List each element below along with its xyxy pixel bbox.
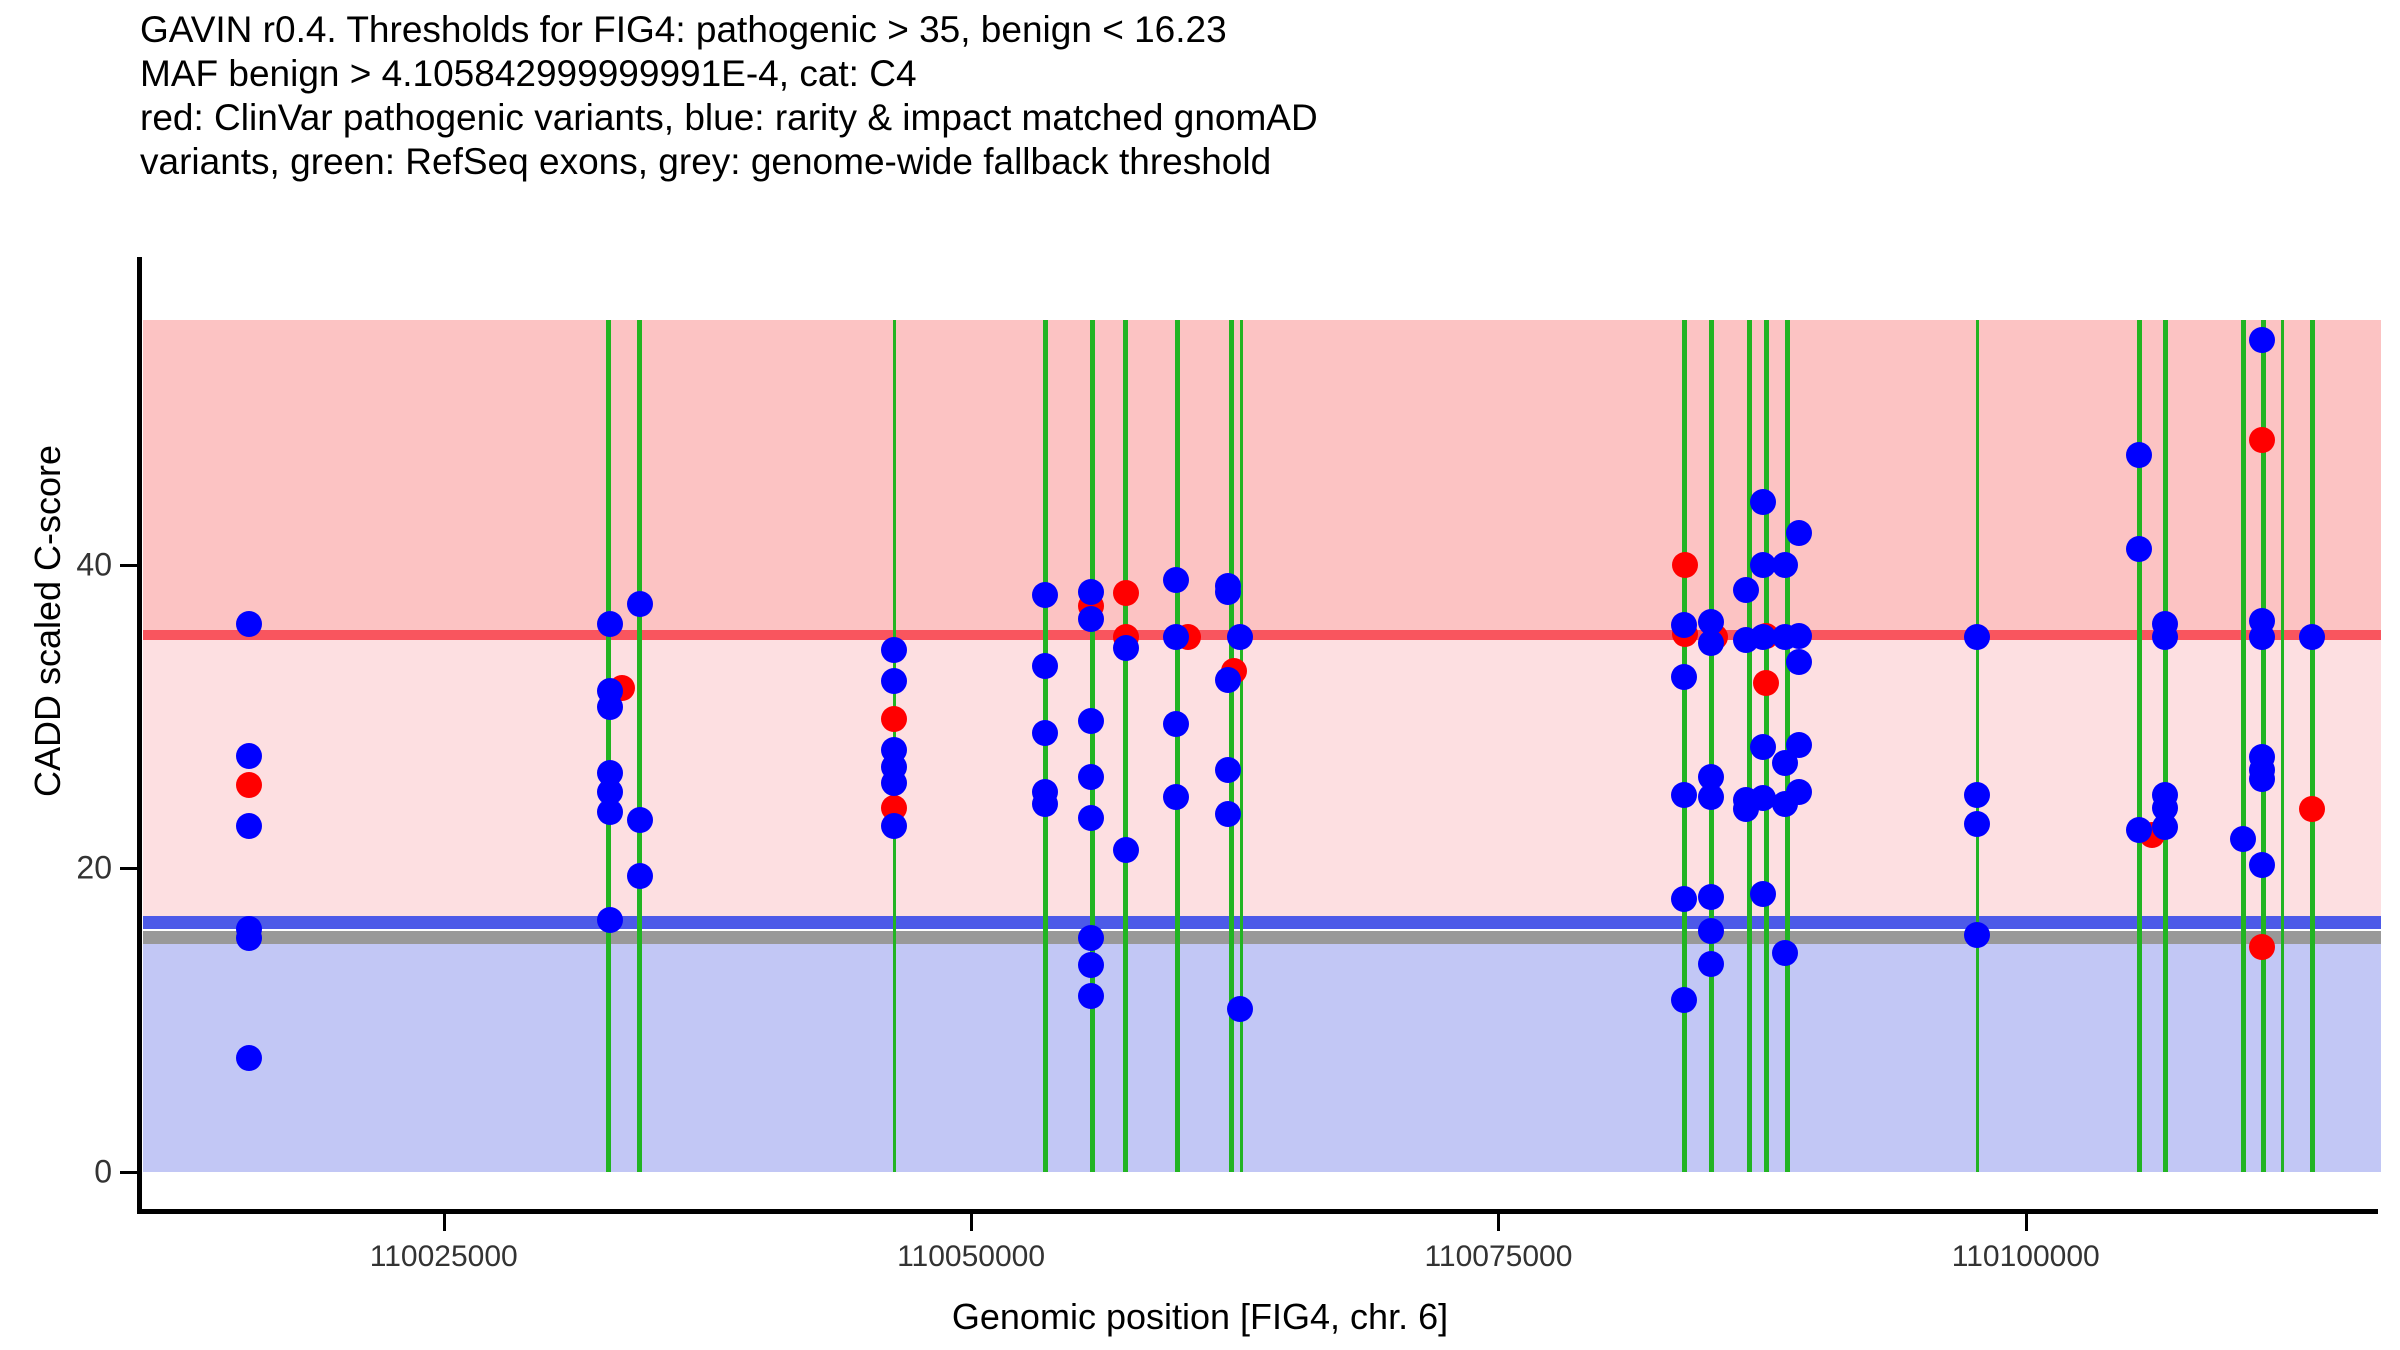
gnomad-point xyxy=(1078,925,1104,951)
pathogenic-point xyxy=(1753,670,1779,696)
gnomad-point xyxy=(1786,623,1812,649)
gnomad-point xyxy=(1113,837,1139,863)
y-axis-title: CADD scaled C-score xyxy=(27,221,69,1021)
gnomad-point xyxy=(1215,667,1241,693)
gnomad-point xyxy=(627,807,653,833)
gnomad-point xyxy=(1750,489,1776,515)
gnomad-point xyxy=(2152,624,2178,650)
gnomad-point xyxy=(881,668,907,694)
gnomad-point xyxy=(1215,757,1241,783)
gnomad-point xyxy=(1078,983,1104,1009)
gnomad-point xyxy=(1078,579,1104,605)
gnomad-point xyxy=(1786,732,1812,758)
gnomad-point xyxy=(1215,801,1241,827)
gnomad-point xyxy=(1786,649,1812,675)
exon-line xyxy=(1709,320,1714,1172)
pathogenic-point xyxy=(2299,796,2325,822)
gnomad-point xyxy=(597,907,623,933)
x-tick-label: 110025000 xyxy=(370,1240,518,1274)
gnomad-point xyxy=(2249,624,2275,650)
gnomad-point xyxy=(1964,922,1990,948)
gnomad-point xyxy=(1671,664,1697,690)
gnomad-point xyxy=(1698,630,1724,656)
gnomad-point xyxy=(1113,635,1139,661)
exon-line xyxy=(1976,320,1979,1172)
pathogenic-point xyxy=(1113,580,1139,606)
x-tick xyxy=(443,1214,446,1231)
gnomad-point xyxy=(1032,582,1058,608)
exon-line xyxy=(1123,320,1128,1172)
chart-title: GAVIN r0.4. Thresholds for FIG4: pathoge… xyxy=(140,8,2240,184)
exon-line xyxy=(2163,320,2168,1172)
gnomad-point xyxy=(1163,567,1189,593)
gnomad-point xyxy=(1671,987,1697,1013)
gnomad-point xyxy=(1032,653,1058,679)
gnomad-point xyxy=(627,591,653,617)
gnomad-point xyxy=(627,863,653,889)
title-line-2: MAF benign > 4.105842999999991E-4, cat: … xyxy=(140,52,2240,96)
x-tick-label: 110100000 xyxy=(1952,1240,2100,1274)
exon-line xyxy=(1229,320,1234,1172)
gnomad-point xyxy=(1964,624,1990,650)
pathogenic-point xyxy=(2249,934,2275,960)
gnomad-point xyxy=(881,637,907,663)
exon-line xyxy=(2241,320,2246,1172)
exon-line xyxy=(1043,320,1048,1172)
exon-line xyxy=(606,320,611,1172)
x-tick-label: 110050000 xyxy=(897,1240,1045,1274)
gnomad-point xyxy=(2230,826,2256,852)
gnomad-point xyxy=(2299,624,2325,650)
plot-area xyxy=(140,257,2378,1213)
gnomad-point xyxy=(1227,996,1253,1022)
y-tick xyxy=(120,1171,137,1174)
gnomad-point xyxy=(2249,327,2275,353)
title-line-4: variants, green: RefSeq exons, grey: gen… xyxy=(140,140,2240,184)
exon-line xyxy=(2281,320,2284,1172)
gnomad-point xyxy=(1078,764,1104,790)
x-tick-label: 110075000 xyxy=(1424,1240,1572,1274)
x-axis-title: Genomic position [FIG4, chr. 6] xyxy=(0,1296,2400,1338)
y-tick xyxy=(120,867,137,870)
gnomad-point xyxy=(2249,766,2275,792)
gnomad-point xyxy=(1964,782,1990,808)
gnomad-point xyxy=(1078,952,1104,978)
gnomad-point xyxy=(1786,779,1812,805)
gnomad-point xyxy=(1750,881,1776,907)
title-line-3: red: ClinVar pathogenic variants, blue: … xyxy=(140,96,2240,140)
gnomad-point xyxy=(1032,791,1058,817)
gnomad-point xyxy=(1671,612,1697,638)
pathogenic-point xyxy=(236,772,262,798)
gnomad-point xyxy=(1698,951,1724,977)
gnomad-point xyxy=(1163,784,1189,810)
pathogenic-point xyxy=(1672,552,1698,578)
pathogenic-point xyxy=(881,706,907,732)
exon-line xyxy=(1175,320,1180,1172)
gnomad-point xyxy=(236,813,262,839)
y-tick-label: 0 xyxy=(0,1154,112,1191)
gnomad-point xyxy=(1227,624,1253,650)
gnomad-point xyxy=(1698,918,1724,944)
gnomad-point xyxy=(2126,536,2152,562)
gnomad-point xyxy=(236,1045,262,1071)
pathogenic-point xyxy=(2249,427,2275,453)
gnomad-point xyxy=(881,813,907,839)
gnomad-point xyxy=(1215,579,1241,605)
gnomad-point xyxy=(2126,442,2152,468)
exon-line xyxy=(1682,320,1687,1172)
data-layer xyxy=(143,257,2381,1213)
gnomad-point xyxy=(1750,734,1776,760)
gnomad-point xyxy=(1772,940,1798,966)
gnomad-point xyxy=(1078,708,1104,734)
title-line-1: GAVIN r0.4. Thresholds for FIG4: pathoge… xyxy=(140,8,2240,52)
gnomad-point xyxy=(1078,805,1104,831)
gnomad-point xyxy=(1772,552,1798,578)
chart-figure: GAVIN r0.4. Thresholds for FIG4: pathoge… xyxy=(0,0,2400,1350)
exon-line xyxy=(637,320,642,1172)
y-tick xyxy=(120,564,137,567)
gnomad-point xyxy=(597,611,623,637)
gnomad-point xyxy=(597,694,623,720)
gnomad-point xyxy=(236,611,262,637)
gnomad-point xyxy=(1671,782,1697,808)
gnomad-point xyxy=(1032,720,1058,746)
gnomad-point xyxy=(1964,811,1990,837)
gnomad-point xyxy=(1698,784,1724,810)
x-tick xyxy=(970,1214,973,1231)
gnomad-point xyxy=(1698,884,1724,910)
x-tick xyxy=(2025,1214,2028,1231)
exon-line xyxy=(1240,320,1243,1172)
exon-line xyxy=(1090,320,1095,1172)
gnomad-point xyxy=(1671,886,1697,912)
gnomad-point xyxy=(2152,814,2178,840)
gnomad-point xyxy=(597,799,623,825)
gnomad-point xyxy=(1786,520,1812,546)
exon-line xyxy=(2310,320,2315,1172)
gnomad-point xyxy=(1733,577,1759,603)
gnomad-point xyxy=(1078,606,1104,632)
gnomad-point xyxy=(236,925,262,951)
gnomad-point xyxy=(2249,852,2275,878)
x-tick xyxy=(1497,1214,1500,1231)
gnomad-point xyxy=(1163,711,1189,737)
gnomad-point xyxy=(881,770,907,796)
gnomad-point xyxy=(236,743,262,769)
